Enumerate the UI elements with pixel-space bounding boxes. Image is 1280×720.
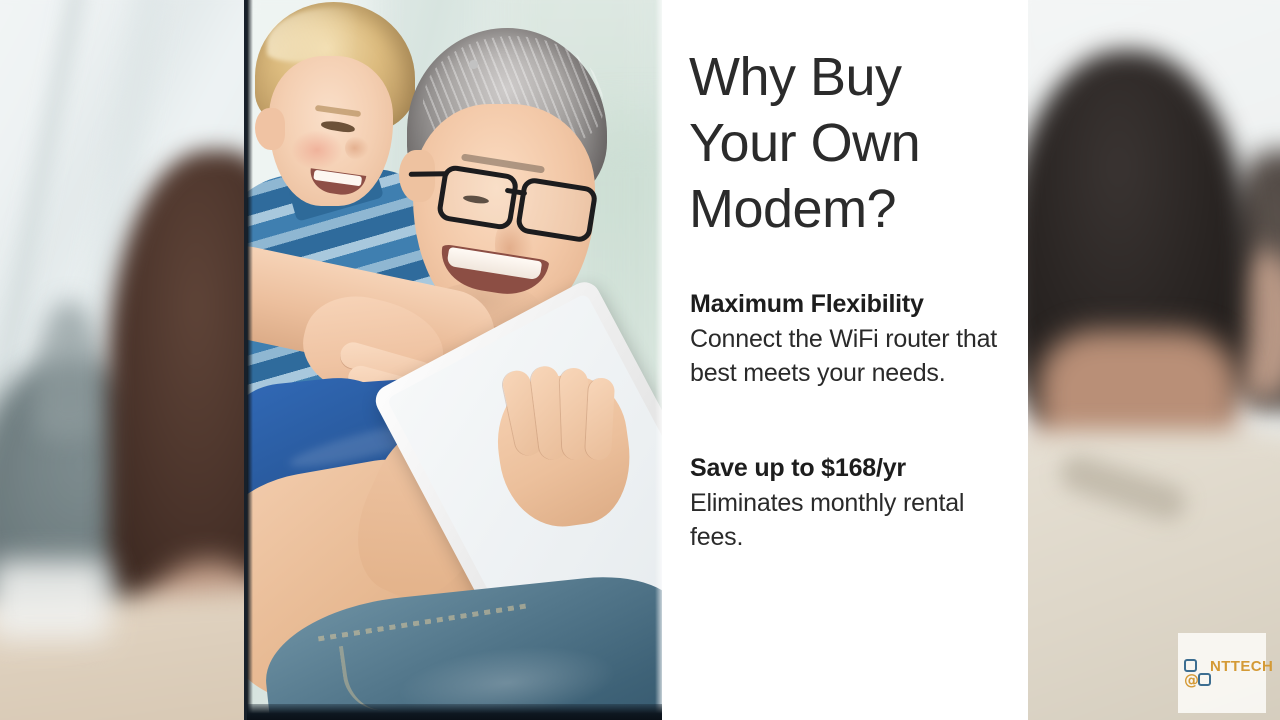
at-symbol-icon: @ <box>1184 673 1198 687</box>
benefit-title: Maximum Flexibility <box>690 288 1020 320</box>
slide-canvas: Why Buy Your Own Modem? Maximum Flexibil… <box>0 0 1280 720</box>
rounded-square-icon <box>1198 673 1211 686</box>
benefit-description: Connect the WiFi router that best meets … <box>690 322 1020 390</box>
benefit-item-savings: Save up to $168/yr Eliminates monthly re… <box>690 452 1020 554</box>
man-finger <box>585 377 615 460</box>
boy-nose <box>345 136 369 160</box>
boy-cheek-blush <box>291 130 343 170</box>
boy-ear <box>255 108 285 150</box>
background-left-blur <box>0 0 244 720</box>
photo-left-border <box>247 0 253 720</box>
logo-watermark: @ NTTECH <box>1178 633 1266 713</box>
page-title: Why Buy Your Own Modem? <box>689 44 1009 242</box>
logo-wordmark: NTTECH <box>1210 658 1273 675</box>
benefit-item-flexibility: Maximum Flexibility Connect the WiFi rou… <box>690 288 1020 390</box>
content-panel: Why Buy Your Own Modem? Maximum Flexibil… <box>662 0 1028 720</box>
logo-lockup: @ NTTECH <box>1184 658 1276 688</box>
eyeglass-temple-arm <box>409 171 449 177</box>
benefit-title: Save up to $168/yr <box>690 452 1020 484</box>
logo-mark-icon: @ <box>1184 658 1210 688</box>
hero-photo <box>244 0 665 720</box>
background-object-blur <box>0 560 110 640</box>
eyeglass-right-lens <box>515 176 599 243</box>
background-right-blur <box>1028 0 1280 720</box>
benefit-description: Eliminates monthly rental fees. <box>690 486 1020 554</box>
photo-bottom-shadow <box>247 704 665 720</box>
